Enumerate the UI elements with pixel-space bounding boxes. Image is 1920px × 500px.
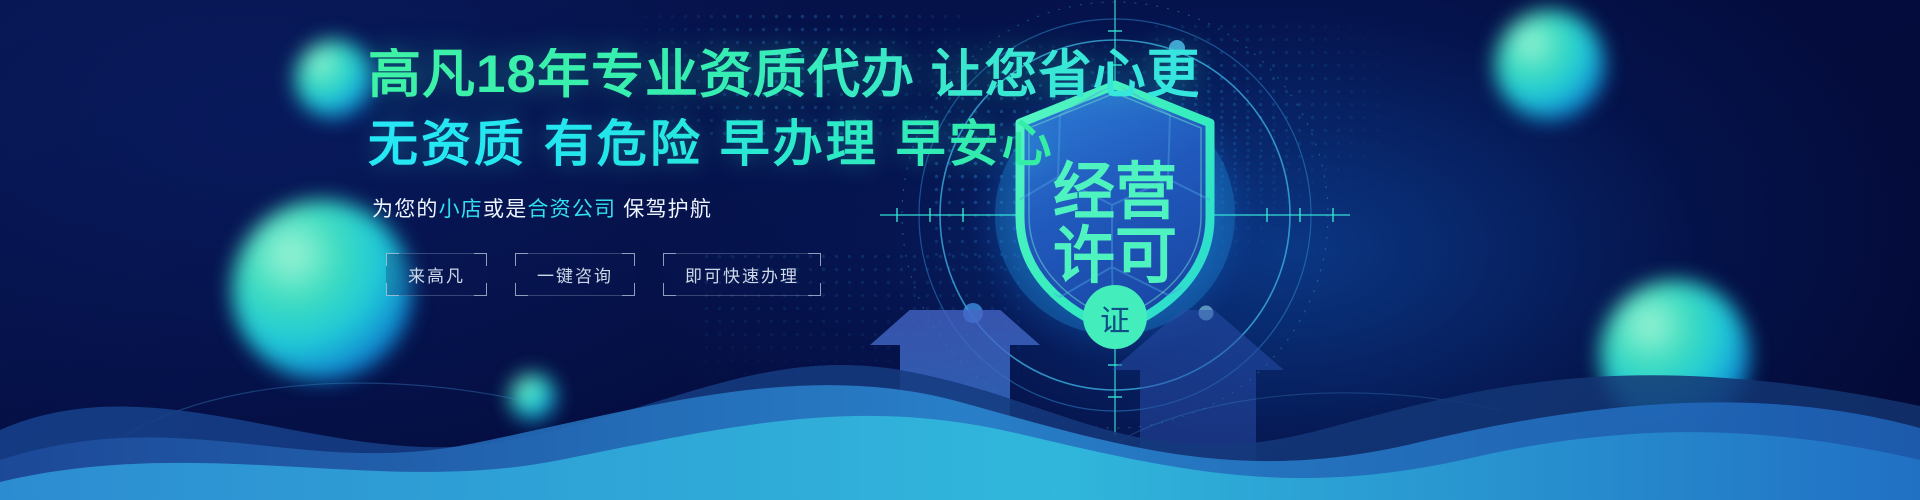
tagline-prefix: 为您的 <box>372 198 439 221</box>
headline: 高凡18年专业资质代办 让您省心更省力 <box>368 48 1198 102</box>
chip-step-3[interactable]: 即可快速办理 <box>663 253 821 296</box>
glow-sphere <box>295 40 373 118</box>
chip-label: 来高凡 <box>408 267 465 286</box>
wave-decoration <box>0 310 1920 500</box>
subheadline: 无资质 有危险 早办理 早安心 <box>368 118 1198 171</box>
glow-sphere <box>1495 10 1605 120</box>
chip-list: 来高凡 一键咨询 即可快速办理 <box>386 253 1198 296</box>
chip-step-1[interactable]: 来高凡 <box>386 253 487 296</box>
tagline-highlight-1: 小店 <box>439 198 483 221</box>
copy-block: 高凡18年专业资质代办 让您省心更省力 无资质 有危险 早办理 早安心 为您的小… <box>368 48 1198 296</box>
promo-banner: 经营 许可 证 <box>0 0 1920 500</box>
chip-step-2[interactable]: 一键咨询 <box>515 253 635 296</box>
tagline: 为您的小店或是合资公司 保驾护航 <box>372 193 1198 223</box>
tagline-middle: 或是 <box>483 198 527 221</box>
tagline-suffix: 保驾护航 <box>616 198 712 221</box>
chip-label: 即可快速办理 <box>685 267 799 286</box>
chip-label: 一键咨询 <box>537 267 613 286</box>
tagline-highlight-2: 合资公司 <box>527 198 616 221</box>
